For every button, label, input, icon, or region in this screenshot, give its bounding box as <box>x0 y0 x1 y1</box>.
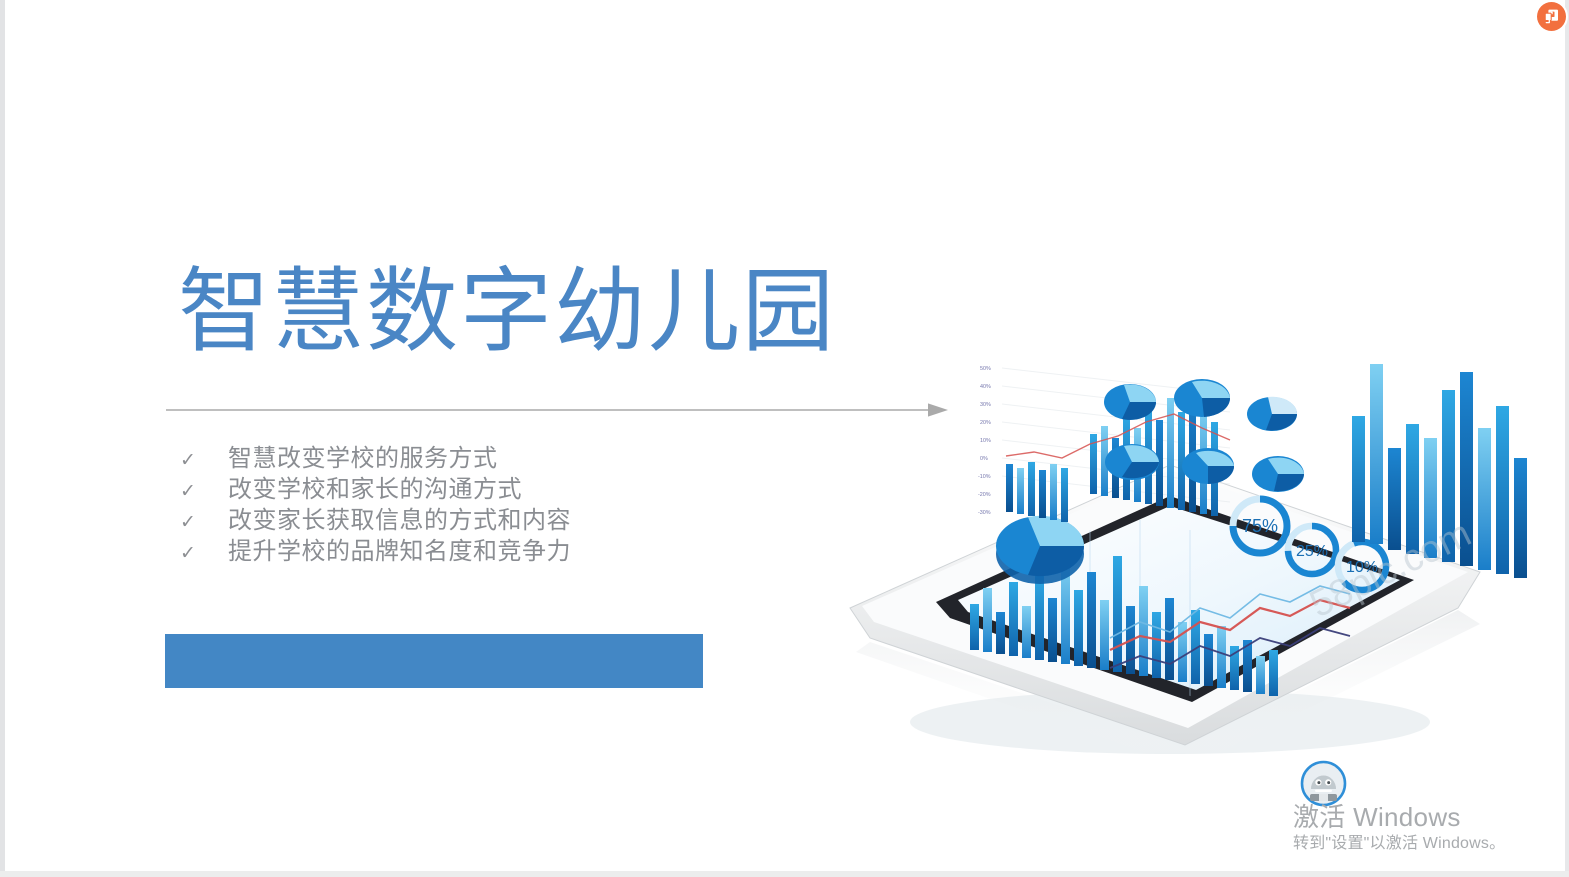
page-edge-bottom <box>0 871 1569 877</box>
check-icon: ✓ <box>180 476 228 507</box>
axis-tick: 30% <box>980 402 991 408</box>
tablet-analytics-illustration: 75% 25% 10% <box>840 350 1569 770</box>
axis-tick: 40% <box>980 384 991 390</box>
check-icon: ✓ <box>180 445 228 476</box>
list-item: ✓ 改变学校和家长的沟通方式 <box>180 474 740 505</box>
bullet-list: ✓ 智慧改变学校的服务方式 ✓ 改变学校和家长的沟通方式 ✓ 改变家长获取信息的… <box>180 443 740 567</box>
list-item-label: 改变学校和家长的沟通方式 <box>228 474 522 505</box>
windows-activation-title: 激活 Windows <box>1293 801 1563 833</box>
axis-tick: -20% <box>978 492 991 498</box>
axis-tick: -30% <box>978 510 991 516</box>
axis-tick: 10% <box>980 438 991 444</box>
accent-band <box>165 634 703 688</box>
axis-tick: -10% <box>978 474 991 480</box>
list-item: ✓ 智慧改变学校的服务方式 <box>180 443 740 474</box>
arrow-rule <box>166 400 950 420</box>
windows-activation-subtitle: 转到"设置"以激活 Windows。 <box>1293 833 1563 855</box>
axis-tick: 50% <box>980 366 991 372</box>
slide-canvas: 智慧数字幼儿园 ✓ 智慧改变学校的服务方式 ✓ 改变学校和家长的沟通方式 ✓ 改… <box>0 0 1569 877</box>
list-item-label: 提升学校的品牌知名度和竞争力 <box>228 536 571 567</box>
pie-chart-large <box>996 516 1084 584</box>
list-item: ✓ 提升学校的品牌知名度和竞争力 <box>180 536 740 567</box>
axis-tick: 20% <box>980 420 991 426</box>
axis-tick: 0% <box>980 456 988 462</box>
page-edge-left <box>0 0 5 877</box>
list-item-label: 改变家长获取信息的方式和内容 <box>228 505 571 536</box>
ppt-convert-icon[interactable] <box>1537 2 1566 31</box>
donut-label-25: 25% <box>1296 543 1328 560</box>
list-item: ✓ 改变家长获取信息的方式和内容 <box>180 505 740 536</box>
windows-activation-watermark: 激活 Windows 转到"设置"以激活 Windows。 <box>1293 760 1563 855</box>
robot-mascot-icon <box>1300 760 1347 807</box>
check-icon: ✓ <box>180 507 228 538</box>
check-icon: ✓ <box>180 538 228 569</box>
donut-label-75: 75% <box>1242 516 1278 536</box>
list-item-label: 智慧改变学校的服务方式 <box>228 443 498 474</box>
page-title: 智慧数字幼儿园 <box>178 262 836 361</box>
